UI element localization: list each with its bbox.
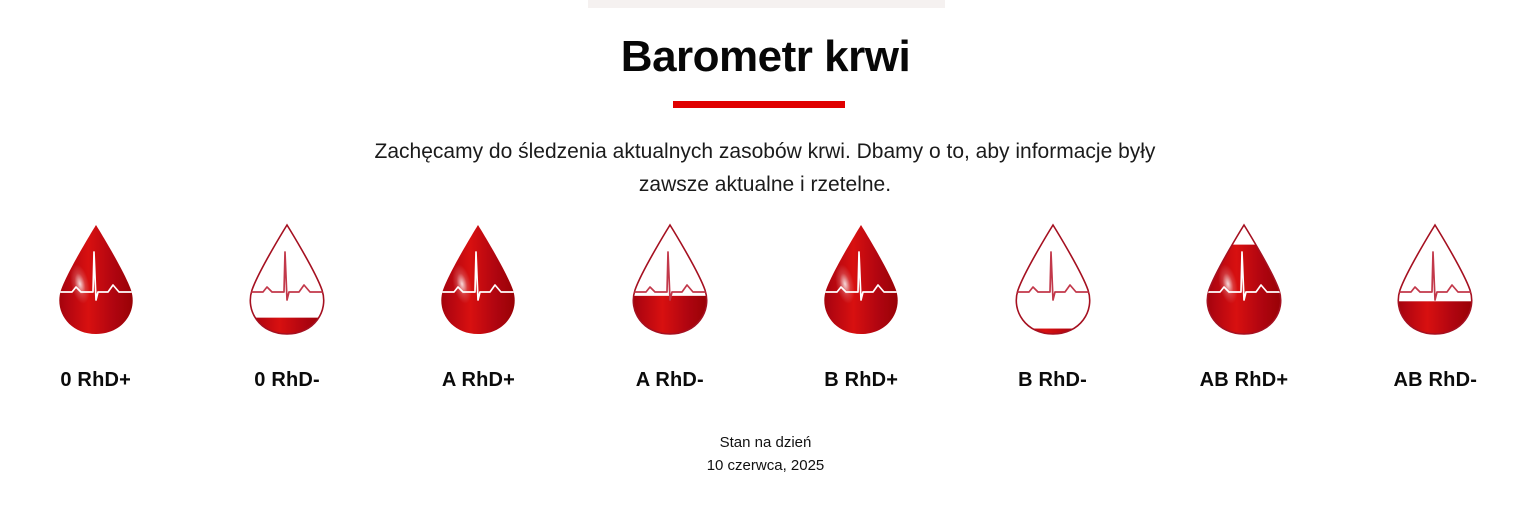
blood-type-label: A RhD+	[442, 369, 515, 392]
blood-drop-icon	[48, 222, 144, 340]
blood-type-item[interactable]: B RhD+	[766, 222, 957, 392]
blood-type-item[interactable]: 0 RhD+	[0, 222, 191, 392]
drop-outline	[1016, 225, 1089, 334]
blood-barometer-chart: 0 RhD+0 RhD-A RhD+A RhD-B RhD+B RhD-AB R…	[0, 222, 1531, 402]
status-date-value: 10 czerwca, 2025	[0, 454, 1531, 477]
blood-type-label: 0 RhD-	[254, 369, 320, 392]
blood-drop-icon	[1196, 222, 1292, 340]
subtitle-line-1: Zachęcamy do śledzenia aktualnych zasobó…	[375, 140, 1010, 163]
top-decorative-band	[588, 0, 945, 8]
status-date-label: Stan na dzień	[720, 434, 812, 451]
blood-type-label: B RhD+	[824, 369, 898, 392]
blood-type-item[interactable]: B RhD-	[957, 222, 1148, 392]
blood-type-item[interactable]: AB RhD-	[1340, 222, 1531, 392]
blood-type-item[interactable]: A RhD-	[574, 222, 765, 392]
blood-fill-level	[239, 318, 335, 340]
blood-type-label: 0 RhD+	[60, 369, 131, 392]
ecg-line-icon	[630, 252, 710, 300]
blood-drop-icon	[430, 222, 526, 340]
blood-type-label: AB RhD-	[1394, 369, 1478, 392]
ecg-line-icon	[1395, 252, 1475, 300]
ecg-line-icon	[1013, 252, 1093, 300]
page-title: Barometr krwi	[0, 34, 1531, 80]
blood-type-label: A RhD-	[636, 369, 704, 392]
blood-type-item[interactable]: AB RhD+	[1148, 222, 1339, 392]
blood-type-label: AB RhD+	[1200, 369, 1289, 392]
title-underline-accent	[673, 101, 845, 108]
blood-drop-icon	[239, 222, 335, 340]
blood-drop-icon	[1387, 222, 1483, 340]
blood-type-item[interactable]: A RhD+	[383, 222, 574, 392]
blood-drop-icon	[813, 222, 909, 340]
status-date-note: Stan na dzień 10 czerwca, 2025	[0, 431, 1531, 478]
blood-type-item[interactable]: 0 RhD-	[191, 222, 382, 392]
page-subtitle: Zachęcamy do śledzenia aktualnych zasobó…	[365, 136, 1165, 201]
ecg-line-icon	[247, 252, 327, 300]
drop-outline	[250, 225, 323, 334]
blood-drop-icon	[1005, 222, 1101, 340]
blood-drop-icon	[622, 222, 718, 340]
blood-type-label: B RhD-	[1018, 369, 1087, 392]
